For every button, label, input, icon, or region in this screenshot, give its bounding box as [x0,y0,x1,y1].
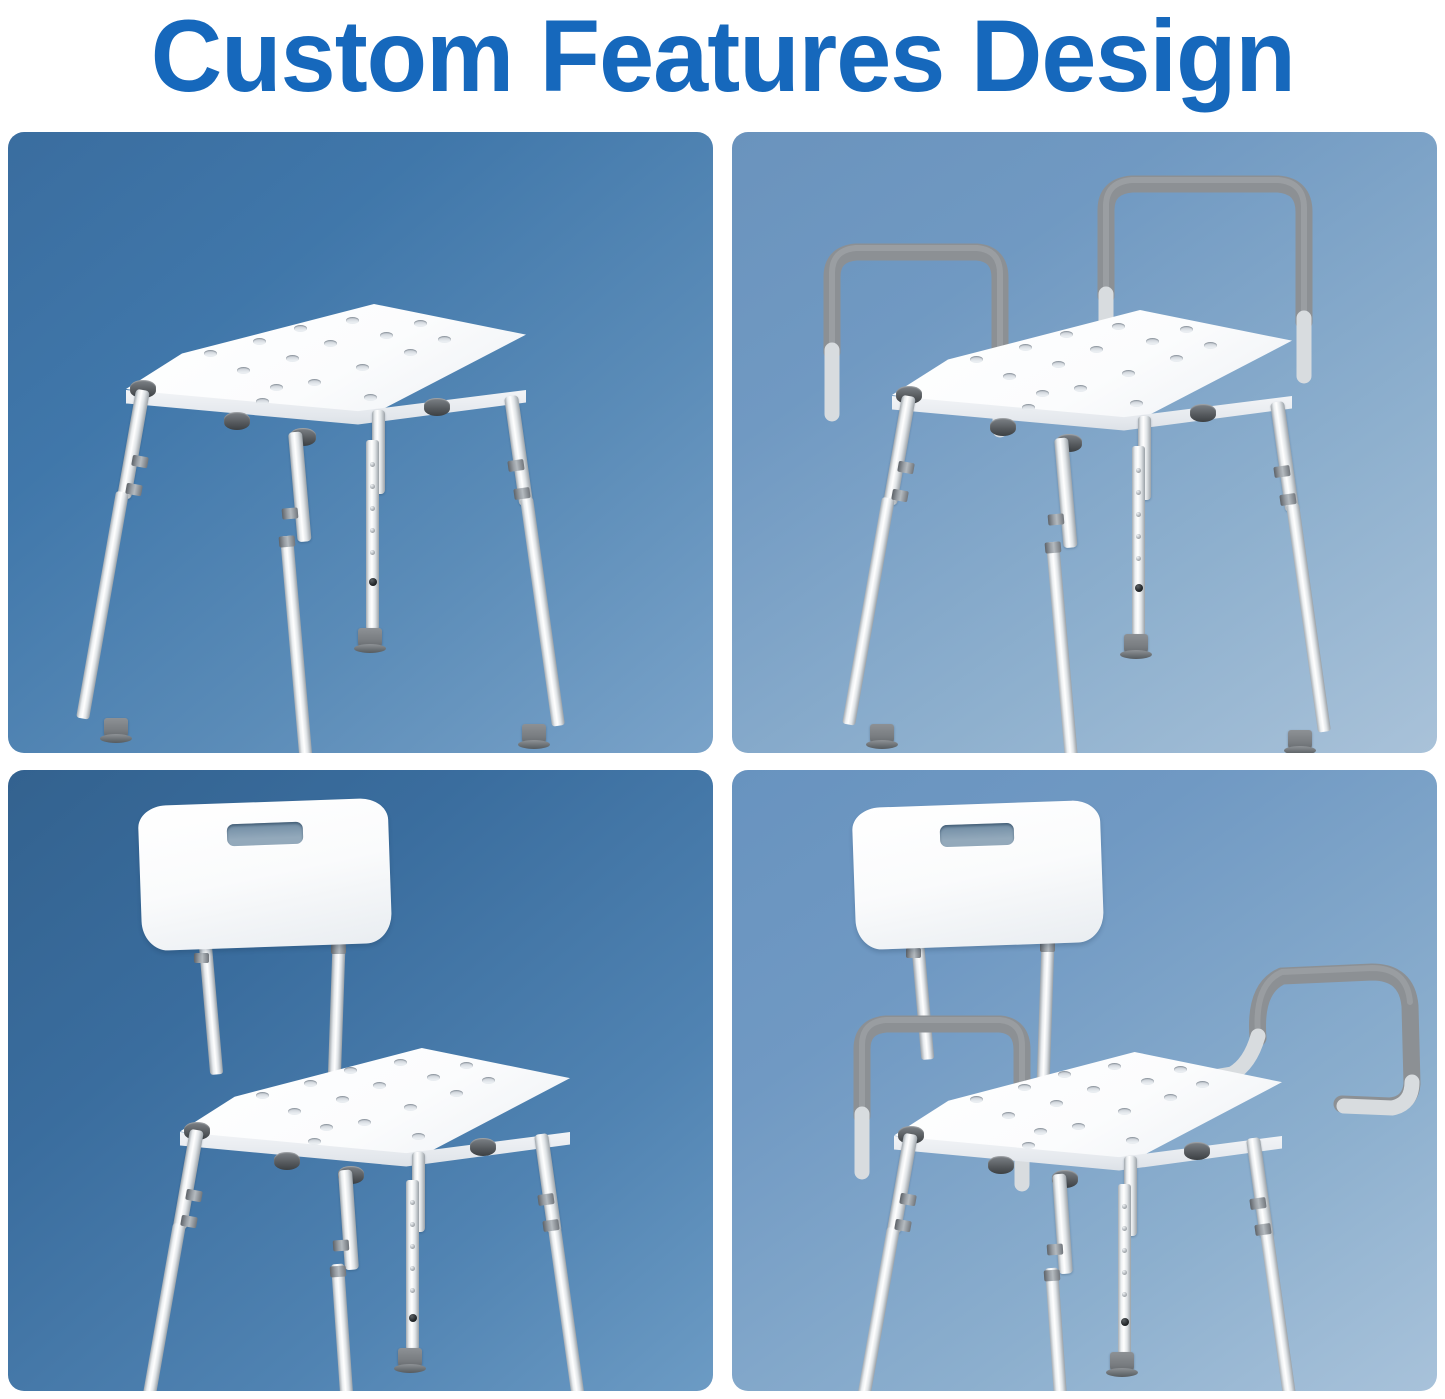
seat-drain-hole [460,1062,473,1069]
seat-drain-hole [1180,326,1193,333]
leg-front-left-lower [76,491,129,720]
seat-drain-hole [1141,1078,1154,1085]
product-image-stool-with-arms [732,132,1437,753]
product-gallery-grid [0,112,1445,1399]
height-adjust-hole [1136,468,1141,473]
seat-drain-hole [1118,1108,1131,1115]
seat-drain-hole [1072,1123,1085,1130]
seat-drain-hole [308,1138,321,1145]
seat-drain-hole [358,1119,371,1126]
height-adjust-hole [1136,490,1141,495]
seat-drain-hole [1090,346,1103,353]
height-adjust-hole [1136,534,1141,539]
height-adjust-hole [1122,1248,1127,1253]
leg-rear-right-lower [1286,503,1331,733]
seat-drain-hole [1019,344,1032,351]
height-adjust-hole [1122,1226,1127,1231]
armrest-left [792,182,1092,482]
arm-socket-right-rear [470,1138,496,1156]
seat-drain-hole [364,394,377,401]
height-adjust-hole [370,550,375,555]
seat-drain-hole [253,338,266,345]
seat-drain-hole [970,1096,983,1103]
seat-drain-hole [204,350,217,357]
seat-drain-hole [356,364,369,371]
seat-drain-hole [1170,355,1183,362]
seat-drain-hole [438,336,451,343]
seat-drain-hole [1126,1137,1139,1144]
leg-rear-center-lower [1118,1184,1131,1354]
height-adjust-hole [1122,1292,1127,1297]
leg-adjust-collar [330,1265,347,1277]
height-adjust-pin [1135,584,1143,592]
leg-adjust-collar [542,1219,559,1232]
seat-drain-hole [1060,331,1073,338]
arm-socket-right-rear [1190,404,1216,422]
seat-drain-hole [394,1059,407,1066]
height-adjust-hole [1136,512,1141,517]
backrest-panel [138,798,393,952]
seat-drain-hole [1146,338,1159,345]
seat-drain-hole [1036,390,1049,397]
arm-socket-right-rear [424,398,450,416]
seat-drain-hole [1018,1084,1031,1091]
arm-socket-left-rear [224,412,250,430]
seat-drain-hole [294,325,307,332]
leg-adjust-collar [1048,513,1065,525]
seat-drain-hole [256,398,269,405]
leg-front-center-lower [1046,541,1081,753]
height-adjust-pin [1121,1318,1129,1326]
seat-drain-hole [482,1077,495,1084]
seat-drain-hole [320,1124,333,1131]
seat-drain-hole [412,1133,425,1140]
rubber-foot [1288,730,1312,752]
seat-drain-hole [1003,373,1016,380]
seat-drain-hole [414,320,427,327]
leg-adjust-collar [1249,1197,1266,1210]
height-adjust-hole [370,484,375,489]
seat-drain-hole [1112,323,1125,330]
leg-adjust-collar [507,459,524,472]
leg-front-left-lower [854,1227,900,1391]
height-adjust-hole [410,1288,415,1293]
seat-drain-hole [336,1096,349,1103]
height-adjust-hole [370,462,375,467]
seat-drain-hole [1196,1081,1209,1088]
leg-adjust-collar [1047,1243,1064,1255]
leg-adjust-collar [1044,1269,1061,1281]
backrest-handle-slot [940,823,1015,848]
rubber-foot [398,1348,422,1370]
height-adjust-pin [369,578,377,586]
height-adjust-hole [410,1200,415,1205]
leg-rear-right-lower [548,1227,587,1391]
rubber-foot [522,724,546,746]
seat-drain-hole [427,1074,440,1081]
rubber-foot [870,724,894,746]
seat-drain-hole [380,332,393,339]
height-adjust-hole [370,506,375,511]
leg-rear-right-lower [1260,1231,1299,1391]
leg-front-center-lower [331,1264,358,1391]
seat-drain-hole [1108,1063,1121,1070]
product-image-chair-back-and-arms [732,770,1437,1391]
arm-socket-right-rear [1184,1142,1210,1160]
leg-adjust-collar [513,487,530,500]
leg-adjust-collar [1254,1223,1271,1236]
leg-adjust-collar [537,1193,554,1206]
height-adjust-hole [1122,1270,1127,1275]
arm-socket-left-rear [274,1152,300,1170]
leg-front-center-upper [338,1170,359,1271]
leg-adjust-collar [1045,541,1062,553]
backrest-post-collar [331,944,346,954]
height-adjust-hole [410,1222,415,1227]
page-header: Custom Features Design [0,0,1445,112]
leg-front-left-lower [842,497,895,726]
seat-drain-hole [373,1082,386,1089]
armrest-right-detached [1202,898,1437,1158]
seat-drain-hole [256,1092,269,1099]
leg-adjust-collar [333,1239,350,1251]
seat-drain-hole [1204,342,1217,349]
seat-drain-hole [346,317,359,324]
leg-adjust-collar [279,535,296,547]
seat-drain-hole [1122,370,1135,377]
seat-drain-hole [344,1067,357,1074]
seat-drain-hole [404,1104,417,1111]
product-image-stool-plain [8,132,713,753]
seat-drain-hole [1164,1094,1177,1101]
leg-rear-right-lower [520,497,565,727]
seat-drain-hole [450,1090,463,1097]
height-adjust-hole [1136,556,1141,561]
seat-drain-hole [304,1080,317,1087]
seat-drain-hole [1022,404,1035,411]
backrest-panel [852,800,1105,951]
leg-front-left-upper [173,1129,204,1230]
seat-drain-hole [1074,385,1087,392]
seat-drain-hole [286,355,299,362]
seat-drain-hole [1058,1071,1071,1078]
arm-socket-left-rear [990,418,1016,436]
rubber-foot [104,718,128,740]
seat-drain-hole [1022,1142,1035,1149]
leg-front-center-lower [280,535,315,753]
leg-adjust-collar [1279,493,1296,506]
seat-drain-hole [1034,1128,1047,1135]
rubber-foot [1110,1352,1134,1374]
leg-adjust-collar [1273,465,1290,478]
gallery-panel-chair-back-and-arms[interactable] [732,770,1437,1391]
leg-front-left-lower [140,1223,186,1391]
leg-rear-center-lower [366,440,379,630]
seat-drain-hole [308,379,321,386]
seat-drain-hole [1052,361,1065,368]
height-adjust-hole [410,1244,415,1249]
seat-drain-hole [404,349,417,356]
product-image-chair-with-back [8,770,713,1391]
leg-adjust-collar [282,507,299,519]
gallery-panel-stool-plain[interactable] [8,132,713,753]
leg-rear-center-lower [406,1180,419,1350]
backrest-handle-slot [227,822,304,847]
backrest-post-collar [194,953,209,963]
leg-front-center-upper [288,431,312,542]
seat-drain-hole [270,384,283,391]
seat-drain-hole [1050,1100,1063,1107]
page-title: Custom Features Design [150,5,1294,107]
seat-drain-hole [1002,1112,1015,1119]
height-adjust-hole [1122,1204,1127,1209]
gallery-panel-chair-with-back[interactable] [8,770,713,1391]
seat-drain-hole [970,356,983,363]
leg-rear-center-lower [1132,446,1145,636]
arm-socket-left-rear [988,1156,1014,1174]
leg-front-center-lower [1045,1268,1072,1391]
height-adjust-hole [410,1266,415,1271]
rubber-foot [1124,634,1148,656]
height-adjust-pin [409,1314,417,1322]
seat-drain-hole [237,367,250,374]
rubber-foot [358,628,382,650]
seat-drain-hole [1130,400,1143,407]
seat-drain-hole [1174,1066,1187,1073]
seat-drain-hole [324,340,337,347]
seat-drain-hole [1087,1086,1100,1093]
gallery-panel-stool-with-arms[interactable] [732,132,1437,753]
seat-drain-hole [288,1108,301,1115]
height-adjust-hole [370,528,375,533]
